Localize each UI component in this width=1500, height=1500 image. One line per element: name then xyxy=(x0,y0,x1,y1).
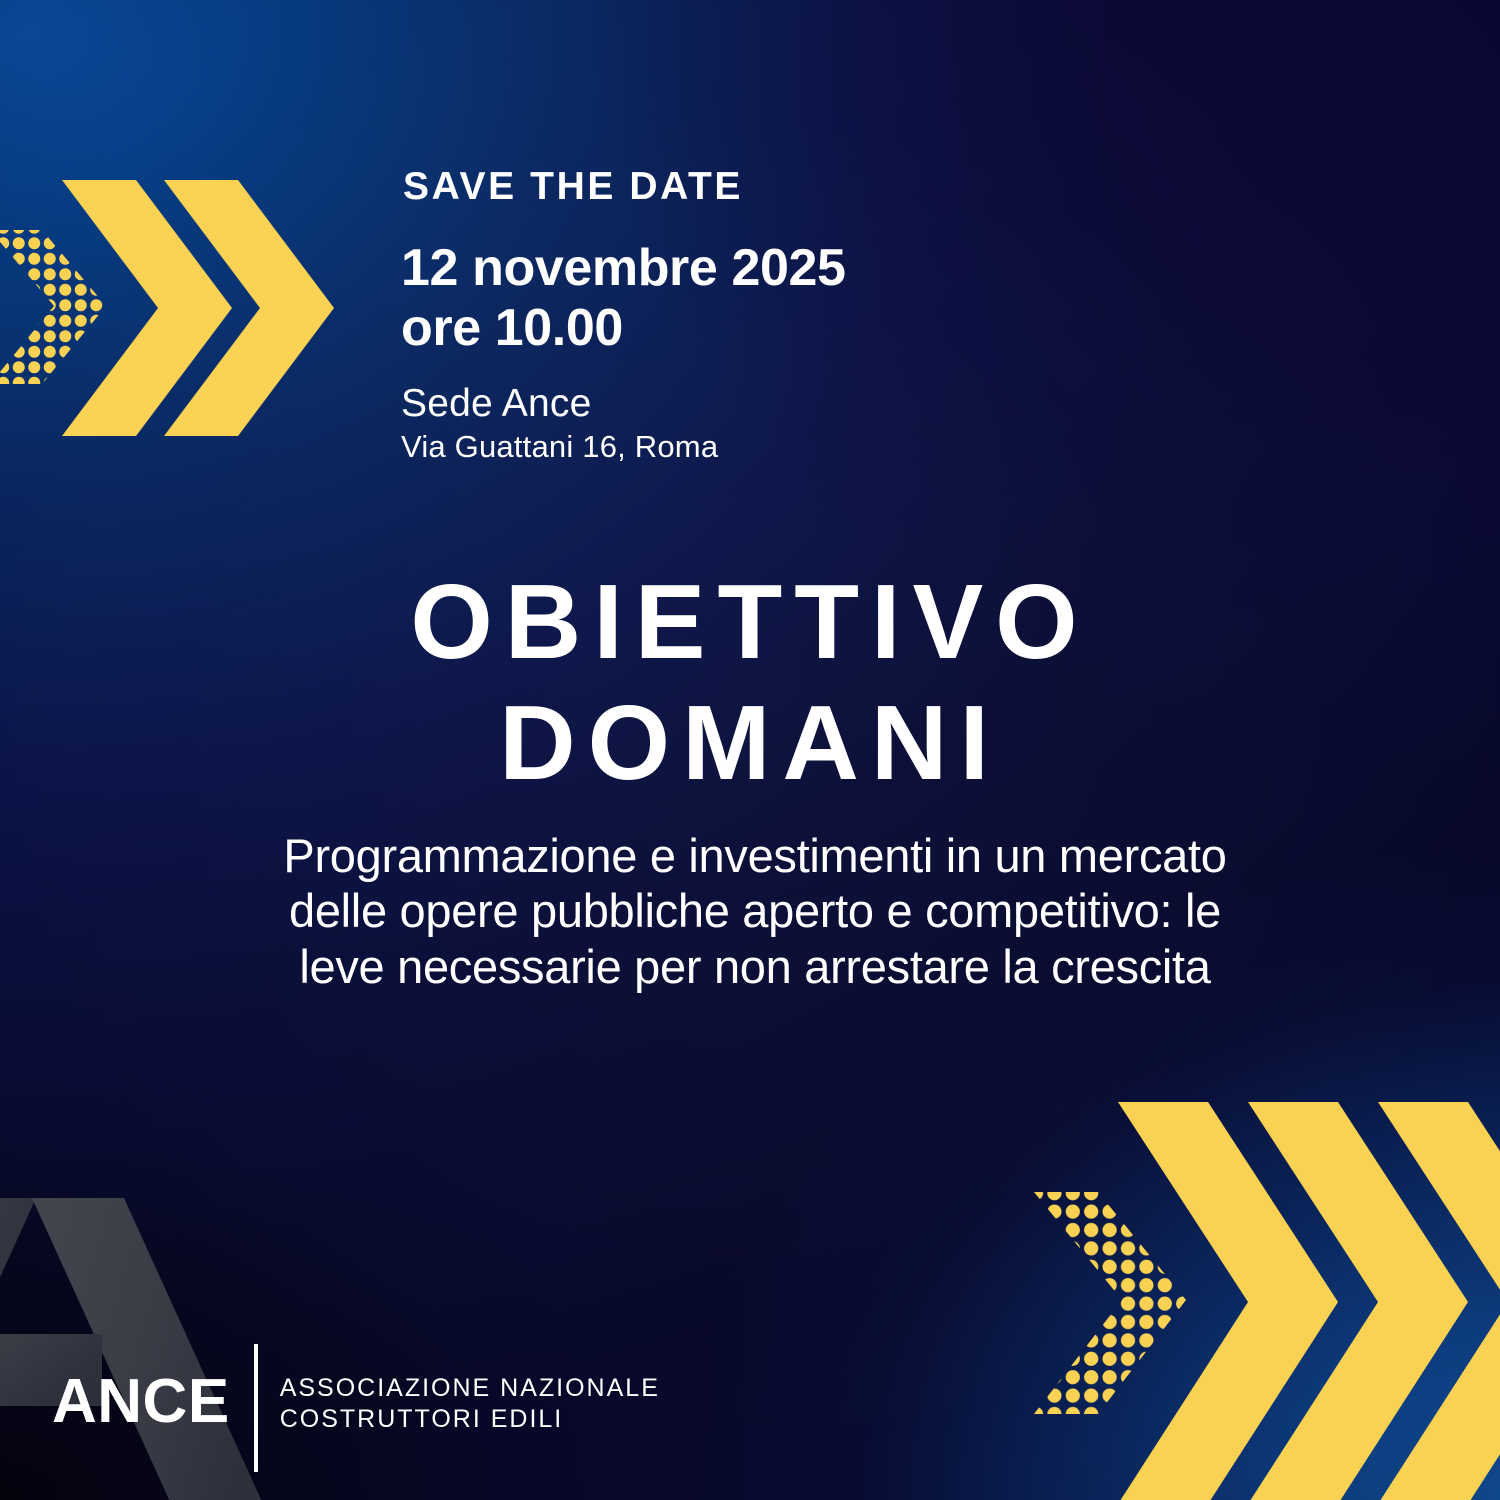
save-the-date-eyebrow: SAVE THE DATE xyxy=(403,166,743,209)
venue-name: Sede Ance xyxy=(401,382,718,426)
ance-logo: ANCE ASSOCIAZIONE NAZIONALE COSTRUTTORI … xyxy=(52,1356,660,1452)
event-date-time: 12 novembre 2025 ore 10.00 xyxy=(401,238,846,359)
logo-wordmark: ANCE xyxy=(52,1371,230,1437)
letter-a-watermark-icon xyxy=(0,1198,344,1500)
triple-chevron-right-icon-top-left xyxy=(0,158,360,458)
venue-block: Sede Ance Via Guattani 16, Roma xyxy=(401,382,718,465)
logo-divider xyxy=(254,1344,258,1472)
page-title: OBIETTIVO DOMANI xyxy=(0,562,1500,804)
logo-tagline: ASSOCIAZIONE NAZIONALE COSTRUTTORI EDILI xyxy=(280,1373,660,1436)
page-subtitle: Programmazione e investimenti in un merc… xyxy=(120,828,1390,994)
triple-chevron-right-icon-bottom-right xyxy=(990,1092,1500,1500)
venue-address: Via Guattani 16, Roma xyxy=(401,428,718,465)
poster-canvas: SAVE THE DATE 12 novembre 2025 ore 10.00… xyxy=(0,0,1500,1500)
